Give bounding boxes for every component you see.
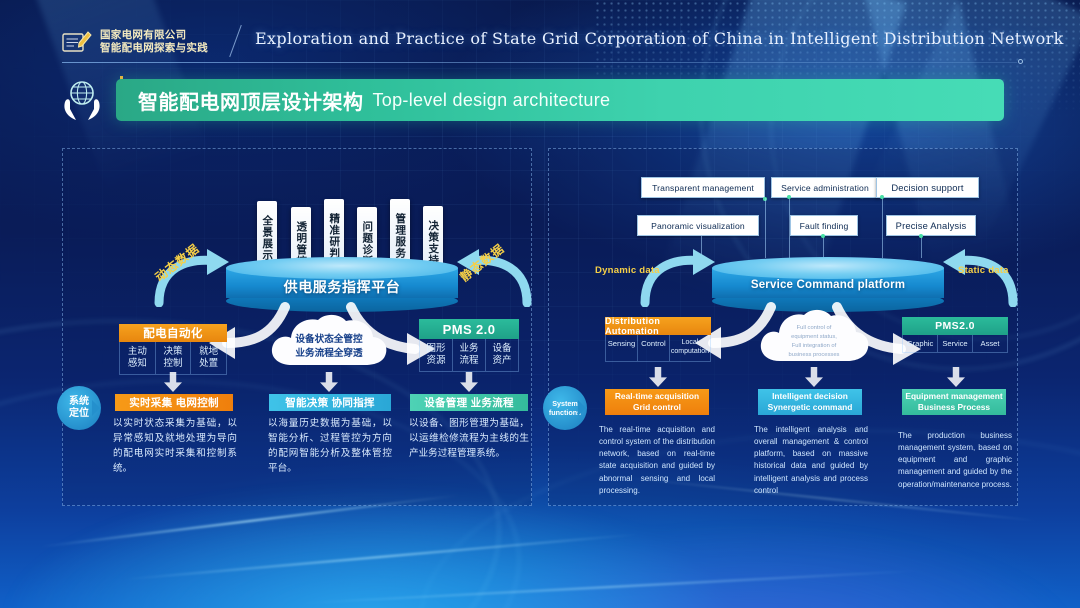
label-box-decision-support: Decision support: [876, 177, 979, 198]
column-header-distribution-automation-en: Distribution Automation Sensing Control …: [605, 317, 711, 362]
feature-card-title: Real-time acquisition Grid control: [605, 389, 709, 415]
role-pill-line-1: 系统: [69, 396, 89, 409]
label-connector: [765, 198, 766, 258]
vertical-tag-label: 全景展示: [262, 215, 273, 261]
header-cell: 就地处置: [191, 342, 226, 374]
static-data-label-en: Static data: [958, 265, 1009, 276]
down-arrow: [947, 367, 965, 387]
header-cell: Local computation: [670, 335, 710, 361]
feature-card-title: Intelligent decision Synergetic command: [758, 389, 862, 415]
label-box-panoramic-visualization: Panoramic visualization: [637, 215, 759, 236]
platform-label-en: Service Command platform: [712, 279, 944, 291]
header-cell: Asset: [973, 335, 1007, 352]
column-header-title: PMS2.0: [902, 317, 1008, 335]
header-title: Exploration and Practice of State Grid C…: [255, 29, 1064, 48]
header-cell: 设备资产: [486, 339, 518, 371]
column-header-cells: Sensing Control Local computation: [605, 335, 711, 362]
org-subtitle-cn: 智能配电网探索与实践: [100, 42, 208, 55]
panel-chinese-architecture: 全景展示 透明管控 精准研判 问题诊断 管理服务 决策支持 供电服务指挥平台 动…: [62, 148, 532, 506]
header-cell: Sensing: [606, 335, 638, 361]
down-arrow: [460, 372, 478, 392]
cloud-line-4: business processes: [755, 351, 873, 359]
brand-logo: 国家电网有限公司 智能配电网探索与实践: [62, 29, 208, 55]
connector-dot: [821, 234, 825, 238]
platform-label-cn: 供电服务指挥平台: [226, 277, 458, 297]
vertical-tag-label: 精准研判: [329, 213, 340, 259]
role-pill-cn: 系统 定位: [57, 386, 101, 430]
header-end-dot: [1018, 59, 1023, 64]
vertical-tag-label: 管理服务: [395, 213, 406, 259]
connector-dot: [787, 195, 791, 199]
header-cell: Graphic: [903, 335, 938, 352]
ribbon-equipment-management: 设备管理 业务流程: [410, 394, 528, 411]
hands-holding-globe-icon: [56, 76, 108, 124]
cloud-callout-cn: 设备状态全管控 业务流程全穿透: [266, 311, 392, 371]
ribbon-realtime-acquisition: 实时采集 电网控制: [115, 394, 233, 411]
column-header-cells: 主动感知 决策控制 就地处置: [119, 342, 227, 375]
label-box-precise-analysis: Precise Analysis: [886, 215, 976, 236]
header-cell: 主动感知: [120, 342, 156, 374]
feature-card-intelligent-decision: Intelligent decision Synergetic command: [758, 389, 862, 415]
header-cell: 业务流程: [453, 339, 486, 371]
role-pill-line-1: System: [552, 399, 578, 408]
down-arrow: [805, 367, 823, 387]
column-header-title: 配电自动化: [119, 324, 227, 342]
org-name-cn: 国家电网有限公司: [100, 29, 208, 42]
section-title-bar: 智能配电网顶层设计架构 Top-level design architectur…: [56, 76, 1004, 124]
supply-service-platform-cylinder: 供电服务指挥平台: [226, 257, 458, 301]
section-title-cn: 智能配电网顶层设计架构: [138, 86, 364, 115]
dynamic-data-arrow: [637, 247, 717, 307]
column-header-pms-en: PMS2.0 Graphic Service Asset: [902, 317, 1008, 353]
label-connector: [882, 198, 883, 258]
notebook-pencil-icon: [62, 29, 92, 55]
cloud-line-3: Full integration of: [755, 342, 873, 350]
header-cell: 决策控制: [156, 342, 192, 374]
cylinder-top: [226, 257, 458, 279]
header-rule: [62, 62, 1017, 63]
body-text-column-2-en: The intelligent analysis and overall man…: [754, 424, 868, 497]
cloud-line-2: equipment status,: [755, 333, 873, 341]
section-title-en: Top-level design architecture: [373, 90, 611, 111]
down-arrow: [320, 372, 338, 392]
label-connector: [789, 198, 790, 258]
body-text-column-1: 以实时状态采集为基础，以异常感知及就地处理为导向的配电网实时采集和控制系统。: [113, 416, 237, 477]
cloud-line-1: Full control of: [755, 324, 873, 332]
panel-english-architecture: Transparent management Service administr…: [548, 148, 1018, 506]
header-cell: 图形资源: [420, 339, 453, 371]
column-header-cells: 图形资源 业务流程 设备资产: [419, 339, 519, 372]
static-data-arrow: [941, 247, 1021, 307]
column-header-distribution-automation: 配电自动化 主动感知 决策控制 就地处置: [119, 324, 227, 375]
role-pill-line-2: 定位: [69, 408, 89, 421]
feature-card-title: Equipment management Business Process: [902, 389, 1006, 415]
connector-dot: [919, 234, 923, 238]
section-title-banner: 智能配电网顶层设计架构 Top-level design architectur…: [116, 79, 1004, 121]
cloud-callout-en: Full control of equipment status, Full i…: [755, 305, 873, 367]
brand-text: 国家电网有限公司 智能配电网探索与实践: [100, 29, 208, 55]
body-text-column-1-en: The real-time acquisition and control sy…: [599, 424, 715, 497]
label-connector: [823, 236, 824, 258]
body-text-column-2: 以海量历史数据为基础，以智能分析、过程管控为方向的配网智能分析及整体管控平台。: [268, 416, 392, 477]
header-divider-slash: [229, 25, 242, 57]
label-box-fault-finding: Fault finding: [790, 215, 858, 236]
down-arrow: [164, 372, 182, 392]
dynamic-data-label-en: Dynamic data: [595, 265, 660, 276]
connector-dot: [880, 195, 884, 199]
column-header-cells: Graphic Service Asset: [902, 335, 1008, 353]
column-header-title: Distribution Automation: [605, 317, 711, 335]
cloud-line-1: 设备状态全管控: [266, 333, 392, 346]
down-arrow: [649, 367, 667, 387]
body-text-column-3: 以设备、图形管理为基础，以运维检修流程为主线的生产业务过程管理系统。: [409, 416, 529, 461]
label-connector: [921, 236, 922, 258]
label-box-transparent-management: Transparent management: [641, 177, 765, 198]
header-cell: Control: [638, 335, 670, 361]
page-header: 国家电网有限公司 智能配电网探索与实践 Exploration and Prac…: [0, 0, 1080, 72]
header-cell: Service: [938, 335, 973, 352]
column-header-pms: PMS 2.0 图形资源 业务流程 设备资产: [419, 319, 519, 372]
service-command-platform-cylinder: Service Command platform: [712, 257, 944, 301]
body-text-column-3-en: The production business management syste…: [898, 430, 1012, 491]
cloud-line-2: 业务流程全穿透: [266, 347, 392, 360]
ribbon-intelligent-decision: 智能决策 协同指挥: [269, 394, 391, 411]
feature-card-equipment-management: Equipment management Business Process: [902, 389, 1006, 415]
role-pill-en: System functions: [543, 386, 587, 430]
feature-card-realtime-acquisition: Real-time acquisition Grid control: [605, 389, 709, 415]
role-pill-line-2: functions: [549, 408, 581, 417]
column-header-title: PMS 2.0: [419, 319, 519, 339]
cylinder-top: [712, 257, 944, 279]
